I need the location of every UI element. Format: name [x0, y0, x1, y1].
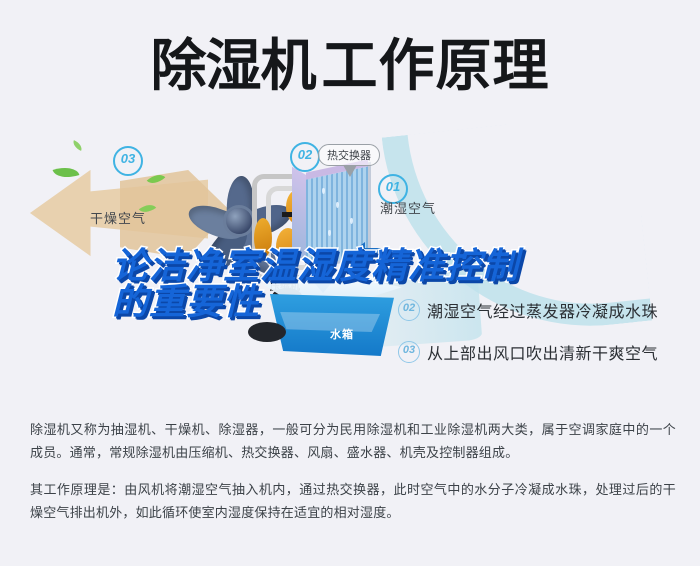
condensation-droplet-icon [328, 230, 331, 236]
condensation-droplet-icon [336, 202, 339, 208]
condensation-droplet-icon [350, 218, 353, 224]
heat-exchanger-callout: 热交换器 [318, 144, 380, 166]
body-copy: 除湿机又称为抽湿机、干燥机、除湿器，一般可分为民用除湿机和工业除湿机两大类，属于… [30, 418, 676, 524]
body-paragraph-2: 其工作原理是：由风机将潮湿空气抽入机内，通过热交换器，此时空气中的水分子冷凝成水… [30, 478, 676, 524]
diagram-badge-02: 02 [290, 142, 320, 172]
leaf-icon [53, 163, 80, 183]
overlay-headline-line-1: 论洁净室温湿度精准控制 [112, 248, 632, 284]
body-paragraph-1: 除湿机又称为抽湿机、干燥机、除湿器，一般可分为民用除湿机和工业除湿机两大类，属于… [30, 418, 676, 464]
step-label: 从上部出风口吹出清新干爽空气 [427, 340, 658, 364]
list-item: 03 从上部出风口吹出清新干爽空气 [398, 340, 678, 364]
page-title: 除湿机工作原理 [0, 30, 700, 110]
diagram-badge-03: 03 [113, 146, 143, 176]
step-badge: 03 [398, 341, 420, 363]
dry-air-label: 干燥空气 [90, 208, 146, 227]
fan-hub-icon [226, 208, 252, 234]
machine-foot-icon [248, 322, 286, 342]
page-title-part-a: 除湿机 [151, 30, 316, 102]
overlay-headline-line-2: 的重要性 [112, 284, 632, 320]
overlay-headline: 论洁净室温湿度精准控制 的重要性 [112, 248, 632, 320]
humid-air-label: 潮湿空气 [380, 198, 436, 217]
condensation-droplet-icon [322, 188, 325, 194]
water-tank-label: 水箱 [330, 326, 354, 342]
leaf-icon [71, 140, 84, 151]
page-title-part-b: 工作原理 [322, 30, 550, 102]
